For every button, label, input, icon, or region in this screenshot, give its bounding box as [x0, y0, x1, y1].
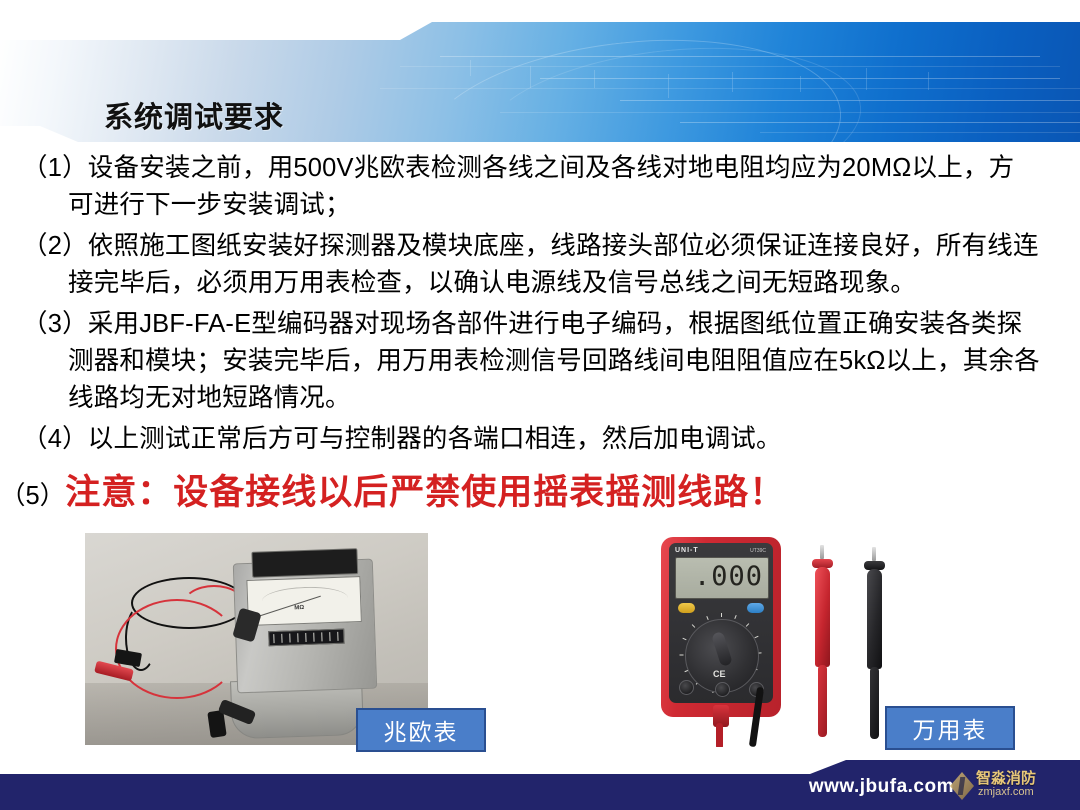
- slide-body: （1）设备安装之前，用500V兆欧表检测各线之间及各线对地电阻均应为20MΩ以上…: [0, 150, 1080, 545]
- multimeter-photo: UNI-T UT39C .000: [655, 533, 915, 747]
- header-banner: 系统调试要求: [0, 22, 1080, 142]
- megohmmeter-dial-face: MΩ: [246, 576, 362, 626]
- warning-index: （5）: [0, 482, 65, 510]
- list-item-text: 采用JBF‑FA-E型编码器对现场各部件进行电子编码，根据图纸位置正确安装各类探…: [68, 310, 1040, 412]
- list-item-index: （3）: [22, 310, 88, 338]
- list-item-index: （4）: [22, 425, 88, 453]
- multimeter-reading: .000: [694, 562, 763, 592]
- watermark-brand-en: zmjaxf.com: [978, 786, 1034, 798]
- watermark-brand-cn: 智淼消防: [976, 767, 1036, 788]
- red-probe-cable: [818, 665, 827, 737]
- warning-text: 注意：设备接线以后严禁使用摇表摇测线路！: [65, 473, 785, 512]
- multimeter-dial-pointer: [711, 631, 733, 667]
- multimeter-red-lead-wire: [716, 723, 723, 747]
- list-item: （3）采用JBF‑FA-E型编码器对现场各部件进行电子编码，根据图纸位置正确安装…: [0, 306, 1040, 417]
- megohmmeter-body: MΩ: [233, 559, 377, 694]
- multimeter-lcd: .000: [675, 557, 769, 599]
- megohmmeter-scale-arc: [262, 585, 348, 603]
- megohmmeter-caption-box: 兆欧表: [356, 708, 486, 752]
- list-item: （4）以上测试正常后方可与控制器的各端口相连，然后加电调试。: [0, 421, 1040, 458]
- megohmmeter-unit-label: MΩ: [294, 605, 304, 611]
- footer-website-url: www.jbufa.com: [809, 776, 954, 798]
- warning-list-item: （5）注意：设备接线以后严禁使用摇表摇测线路！: [0, 470, 1080, 519]
- list-item-text: 设备安装之前，用500V兆欧表检测各线之间及各线对地电阻均应为20MΩ以上，方可…: [68, 154, 1014, 219]
- page-title: 系统调试要求: [104, 94, 284, 136]
- multimeter-ma-jack[interactable]: [715, 682, 730, 697]
- multimeter-housing: UNI-T UT39C .000: [661, 537, 781, 717]
- megohmmeter-top-window: [251, 548, 358, 578]
- megohmmeter-caption-label: 兆欧表: [384, 713, 459, 747]
- multimeter-model-label: UT39C: [750, 548, 766, 554]
- list-item-text: 依照施工图纸安装好探测器及模块底座，线路接头部位必须保证连接良好，所有线连接完毕…: [68, 232, 1039, 297]
- multimeter-caption-label: 万用表: [913, 711, 988, 745]
- red-probe-grip: [815, 567, 830, 667]
- list-item: （1）设备安装之前，用500V兆欧表检测各线之间及各线对地电阻均应为20MΩ以上…: [0, 150, 1040, 224]
- watermark-logo: 智淼消防 zmjaxf.com: [950, 766, 1072, 806]
- black-probe-grip: [867, 569, 882, 669]
- ce-mark-icon: CE: [713, 669, 726, 679]
- black-probe-tip: [872, 547, 876, 561]
- list-item-index: （2）: [22, 232, 88, 260]
- megohmmeter-terminal-strip: [268, 629, 344, 647]
- red-test-probe: [815, 557, 830, 733]
- black-probe-cable: [870, 667, 879, 739]
- list-item: （2）依照施工图纸安装好探测器及模块底座，线路接头部位必须保证连接良好，所有线连…: [0, 228, 1040, 302]
- footer-bar: www.jbufa.com 智淼消防 zmjaxf.com: [0, 760, 1080, 810]
- red-probe-tip: [820, 545, 824, 559]
- multimeter-brand-label: UNI-T: [675, 547, 699, 554]
- multimeter-range-button[interactable]: [747, 603, 764, 613]
- banner-tech-lines: [380, 22, 1080, 142]
- list-item-index: （1）: [22, 154, 88, 182]
- watermark-diamond-icon: [950, 772, 974, 800]
- black-test-probe: [867, 559, 882, 735]
- megohmmeter-side-knob: [232, 608, 261, 643]
- list-item-text: 以上测试正常后方可与控制器的各端口相连，然后加电调试。: [88, 425, 782, 453]
- multimeter-faceplate: UNI-T UT39C .000: [669, 543, 773, 703]
- multimeter-caption-box: 万用表: [885, 706, 1015, 750]
- multimeter-hold-button[interactable]: [678, 603, 695, 613]
- multimeter-com-jack[interactable]: [679, 680, 694, 695]
